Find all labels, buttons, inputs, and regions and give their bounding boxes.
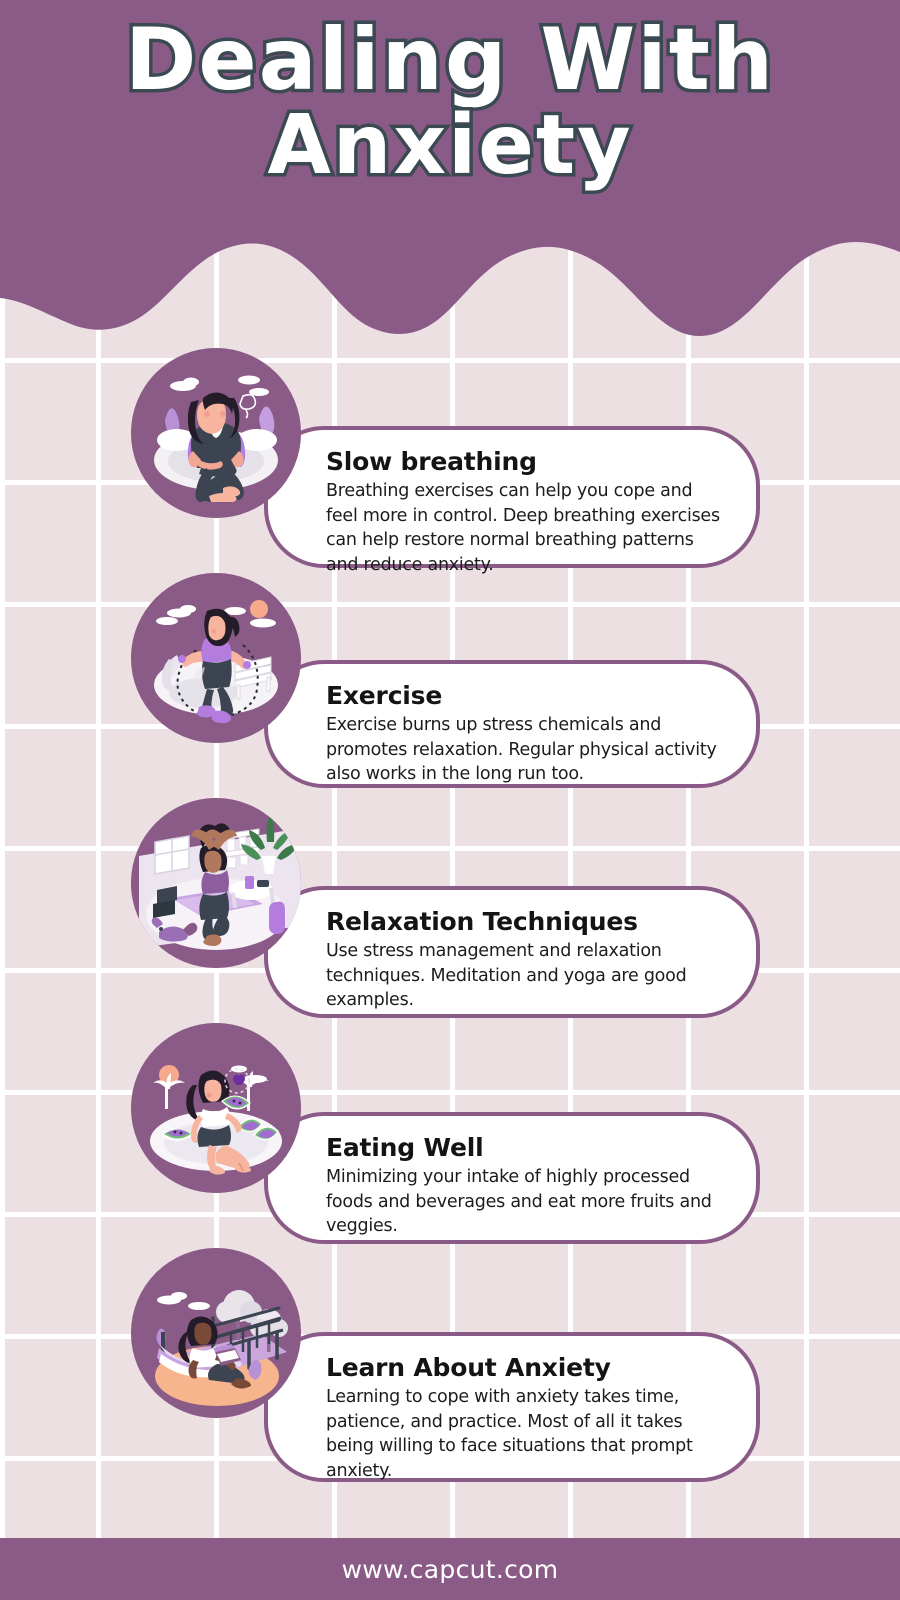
card-slow-breathing[interactable]: Slow breathing Breathing exercises can h… xyxy=(264,426,760,568)
card-body: Exercise burns up stress chemicals and p… xyxy=(326,713,722,788)
card-title: Slow breathing xyxy=(326,448,722,477)
card-title: Relaxation Techniques xyxy=(326,908,722,937)
card-body: Breathing exercises can help you cope an… xyxy=(326,479,722,578)
card-exercise[interactable]: Exercise Exercise burns up stress chemic… xyxy=(264,660,760,788)
woman-meditating-illustration xyxy=(131,348,301,518)
card-title: Eating Well xyxy=(326,1134,722,1163)
woman-yoga-tree-pose-illustration xyxy=(131,798,301,968)
footer-bar: www.capcut.com xyxy=(0,1538,900,1600)
card-eating-well[interactable]: Eating Well Minimizing your intake of hi… xyxy=(264,1112,760,1244)
card-body: Minimizing your intake of highly process… xyxy=(326,1165,722,1240)
card-body: Learning to cope with anxiety takes time… xyxy=(326,1385,722,1484)
card-relaxation-techniques[interactable]: Relaxation Techniques Use stress managem… xyxy=(264,886,760,1018)
tips-list: Slow breathing Breathing exercises can h… xyxy=(0,0,900,1600)
woman-jumping-rope-illustration xyxy=(131,573,301,743)
footer-url[interactable]: www.capcut.com xyxy=(342,1555,559,1584)
card-title: Learn About Anxiety xyxy=(326,1354,722,1383)
card-title: Exercise xyxy=(326,682,722,711)
card-body: Use stress management and relaxation tec… xyxy=(326,939,722,1014)
woman-reading-in-hammock-illustration xyxy=(131,1248,301,1418)
infographic-poster: Dealing With Anxiety xyxy=(0,0,900,1600)
card-learn-about-anxiety[interactable]: Learn About Anxiety Learning to cope wit… xyxy=(264,1332,760,1482)
woman-eating-watermelon-illustration xyxy=(131,1023,301,1193)
